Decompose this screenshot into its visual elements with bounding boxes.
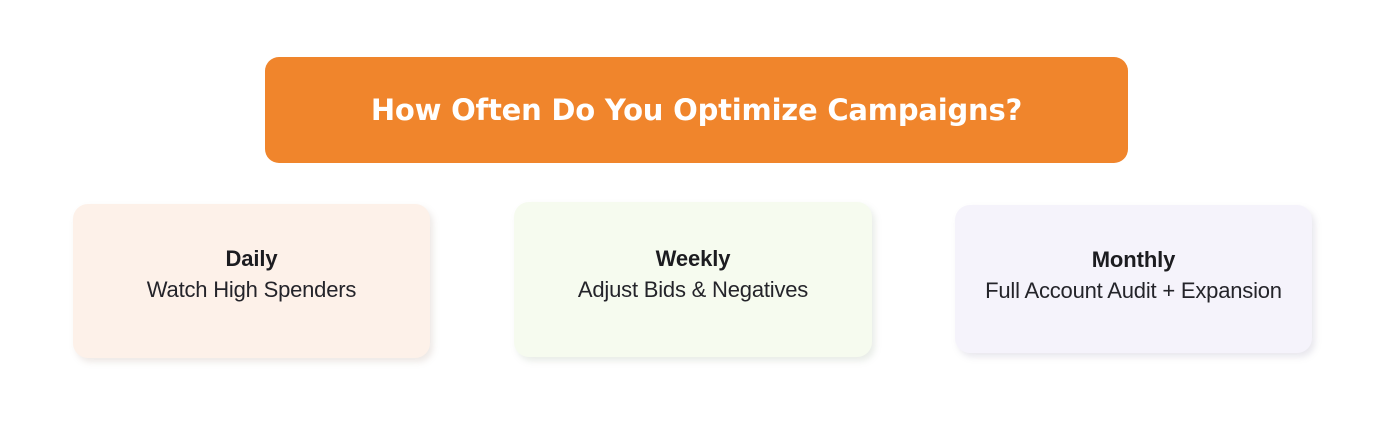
cadence-card-weekly: Weekly Adjust Bids & Negatives (514, 202, 872, 357)
banner-title: How Often Do You Optimize Campaigns? (371, 96, 1022, 125)
card-title-daily: Daily (225, 246, 277, 271)
card-title-weekly: Weekly (656, 246, 731, 271)
header-banner: How Often Do You Optimize Campaigns? (265, 57, 1128, 163)
card-subtitle-daily: Watch High Spenders (147, 277, 356, 303)
card-subtitle-weekly: Adjust Bids & Negatives (578, 277, 808, 303)
cadence-card-monthly: Monthly Full Account Audit + Expansion (955, 205, 1312, 353)
cadence-card-daily: Daily Watch High Spenders (73, 204, 430, 358)
card-subtitle-monthly: Full Account Audit + Expansion (985, 278, 1282, 304)
optimization-cadence-infographic: How Often Do You Optimize Campaigns? Dai… (0, 0, 1400, 424)
card-title-monthly: Monthly (1092, 247, 1176, 272)
